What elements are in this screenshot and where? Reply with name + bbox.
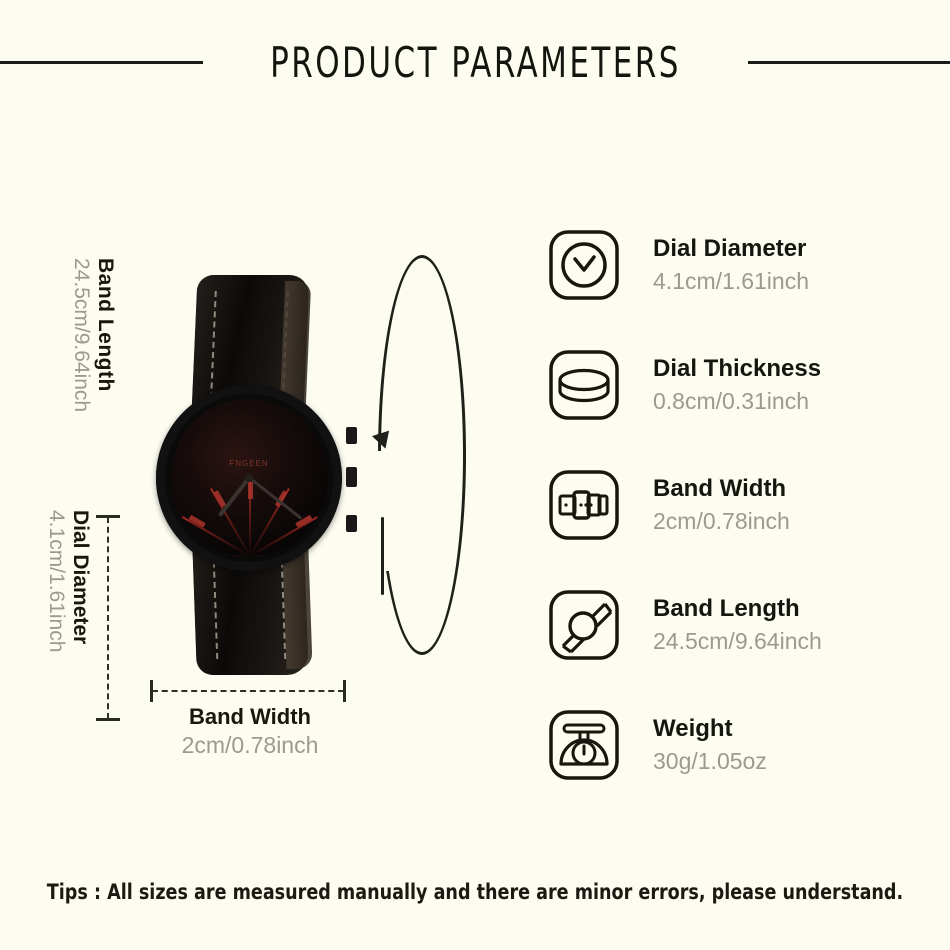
- watch-product-image: FNGEEN: [150, 275, 350, 675]
- dial-diameter-callout: Dial Diameter 4.1cm/1.61inch: [0, 510, 92, 726]
- band-length-ellipse: [378, 255, 466, 655]
- hour-marker: [251, 551, 325, 554]
- header-rule-left: [0, 61, 203, 64]
- band-width-dimension-line: [150, 680, 346, 702]
- dimension-shaft: [152, 690, 344, 692]
- page-title: PRODUCT PARAMETERS: [270, 38, 681, 87]
- product-diagram: Dial Diameter 4.1cm/1.61inch: [0, 185, 520, 785]
- spec-value: 4.1cm/1.61inch: [653, 268, 809, 296]
- band-length-callout-label: Band Length: [93, 258, 117, 392]
- tips-note: Tips : All sizes are measured manually a…: [33, 880, 917, 904]
- watch-pusher-bottom: [346, 515, 357, 532]
- spec-text: Band Length 24.5cm/9.64inch: [653, 595, 822, 655]
- specification-list: Dial Diameter 4.1cm/1.61inch Dial Thickn…: [545, 205, 945, 805]
- spec-label: Dial Diameter: [653, 235, 809, 264]
- spec-row-weight: Weight 30g/1.05oz: [545, 685, 945, 805]
- band-width-callout-value: 2cm/0.78inch: [110, 731, 390, 760]
- spec-row-dial-thickness: Dial Thickness 0.8cm/0.31inch: [545, 325, 945, 445]
- spec-text: Dial Thickness 0.8cm/0.31inch: [653, 355, 821, 415]
- band-width-callout: Band Width 2cm/0.78inch: [110, 703, 390, 759]
- weight-scale-icon: [545, 706, 623, 784]
- dial-thickness-icon: [545, 346, 623, 424]
- watch-case: FNGEEN: [156, 385, 342, 571]
- spec-value: 2cm/0.78inch: [653, 508, 790, 536]
- dial-diameter-callout-value: 4.1cm/1.61inch: [45, 510, 69, 652]
- hour-marker: [177, 551, 251, 554]
- band-width-callout-label: Band Width: [110, 703, 390, 731]
- band-length-tail: [381, 517, 384, 595]
- spec-row-band-length: Band Length 24.5cm/9.64inch: [545, 565, 945, 685]
- dimension-cap-right: [343, 680, 346, 702]
- spec-text: Dial Diameter 4.1cm/1.61inch: [653, 235, 809, 295]
- dial-diameter-dimension-line: [96, 515, 120, 721]
- watch-dial-icon: [545, 226, 623, 304]
- band-length-loop: [372, 255, 472, 655]
- watch-hour-hand: [218, 477, 251, 517]
- spec-label: Dial Thickness: [653, 355, 821, 384]
- spec-text: Band Width 2cm/0.78inch: [653, 475, 790, 535]
- spec-label: Weight: [653, 715, 767, 744]
- band-length-callout: Band Length 24.5cm/9.64inch: [21, 258, 117, 488]
- watch-dial: FNGEEN: [170, 399, 328, 557]
- spec-row-band-width: Band Width 2cm/0.78inch: [545, 445, 945, 565]
- hour-marker: [249, 478, 252, 552]
- band-length-callout-value: 24.5cm/9.64inch: [70, 258, 94, 412]
- spec-label: Band Width: [653, 475, 790, 504]
- dial-diameter-callout-label: Dial Diameter: [68, 510, 92, 644]
- spec-label: Band Length: [653, 595, 822, 624]
- product-parameters-page: PRODUCT PARAMETERS Dial Diameter 4.1cm/1…: [0, 0, 950, 950]
- spec-value: 30g/1.05oz: [653, 748, 767, 776]
- watch-crown: [346, 467, 357, 487]
- spec-text: Weight 30g/1.05oz: [653, 715, 767, 775]
- watch-hand-pivot: [245, 474, 253, 482]
- page-header: PRODUCT PARAMETERS: [0, 32, 950, 92]
- spec-value: 24.5cm/9.64inch: [653, 628, 822, 656]
- band-length-icon: [545, 586, 623, 664]
- spec-row-dial-diameter: Dial Diameter 4.1cm/1.61inch: [545, 205, 945, 325]
- band-width-icon: [545, 466, 623, 544]
- dial-brand-text: FNGEEN: [229, 459, 268, 468]
- header-rule-right: [748, 61, 950, 64]
- spec-value: 0.8cm/0.31inch: [653, 388, 821, 416]
- dimension-shaft: [107, 517, 109, 719]
- watch-pusher-top: [346, 427, 357, 444]
